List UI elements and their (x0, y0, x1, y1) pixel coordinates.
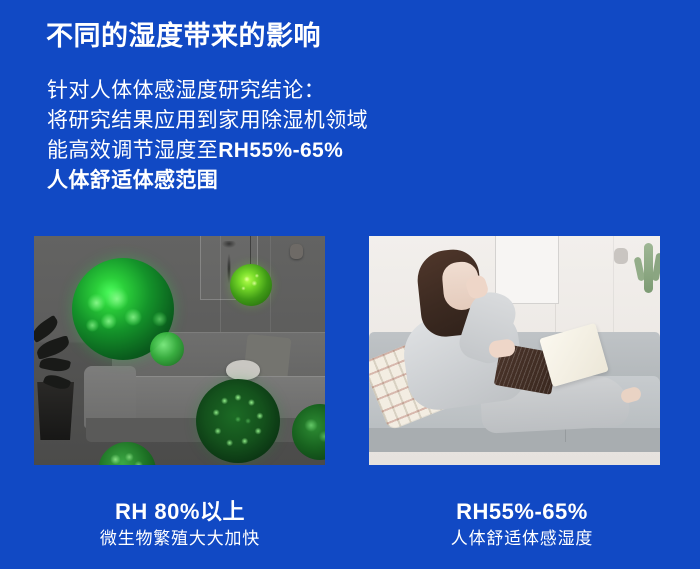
plant-pot (34, 382, 74, 440)
caption-right: RH55%-65% 人体舒适体感湿度 (372, 498, 672, 551)
body-copy-block: 针对人体体感湿度研究结论： 将研究结果应用到家用除湿机领域 能高效调节湿度至RH… (47, 76, 477, 196)
body-line-2: 将研究结果应用到家用除湿机领域 (47, 106, 477, 136)
caption-right-sub: 人体舒适体感湿度 (372, 526, 672, 551)
photo-woman-reading (369, 236, 660, 465)
caption-left-sub: 微生物繁殖大大加快 (30, 526, 330, 551)
caption-right-main: RH55%-65% (372, 498, 672, 526)
germ-sphere-mid (150, 332, 184, 366)
humidity-effects-poster: 不同的湿度带来的影响 针对人体体感湿度研究结论： 将研究结果应用到家用除湿机领域… (0, 0, 700, 569)
page-title: 不同的湿度带来的影响 (46, 19, 321, 53)
photo-germs-dim-room (34, 236, 325, 465)
sofa-white-pillow (226, 360, 260, 380)
body-line-1: 针对人体体感湿度研究结论： (47, 76, 477, 106)
caption-left-main: RH 80%以上 (30, 498, 330, 526)
germ-sphere-small (230, 264, 272, 306)
caption-left: RH 80%以上 微生物繁殖大大加快 (30, 498, 330, 551)
body-line-3: 能高效调节湿度至RH55%-65% (47, 136, 477, 166)
body-line-4: 人体舒适体感范围 (47, 166, 477, 196)
wall-knob-icon (614, 248, 628, 264)
wall-cactus-artwork (495, 236, 559, 304)
body-line-3-highlight: RH55%-65% (218, 139, 343, 162)
wall-knob-icon (290, 244, 303, 259)
cactus-trunk-icon (644, 243, 653, 293)
virus-sphere-large (196, 379, 280, 463)
body-line-3-regular: 能高效调节湿度至 (47, 139, 218, 162)
